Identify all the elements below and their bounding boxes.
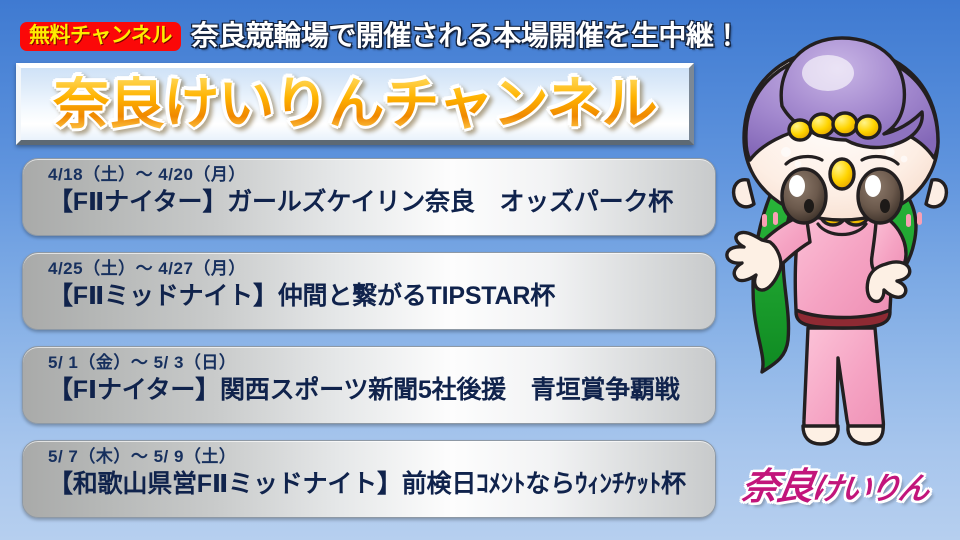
mascot-eye-highlights xyxy=(789,175,890,213)
mascot-belt xyxy=(796,298,890,328)
mascot-torso xyxy=(795,201,891,318)
event-date: 4/25（土）～ 4/27（月） xyxy=(48,260,715,277)
mascot-legs xyxy=(804,328,883,442)
mascot-arm-left xyxy=(753,214,810,274)
mascot-shoe-right xyxy=(848,426,883,444)
mascot-ear-left xyxy=(734,180,754,207)
mascot-character-illustration xyxy=(700,28,960,498)
mascot-face xyxy=(744,48,938,220)
schedule-list: 4/18（土）～ 4/20（月） 【FⅡナイター】ガールズケイリン奈良 オッズパ… xyxy=(22,158,716,518)
mascot-headdress-band xyxy=(746,52,938,160)
brand-logo-main: 奈良 xyxy=(739,466,815,507)
mascot-headdress-top xyxy=(781,38,922,147)
mascot-forehead-jewel xyxy=(830,159,854,189)
broadcast-promo-screen: 無料チャンネル 奈良競輪場で開催される本場開催を生中継！ 奈良けいりんチャンネル… xyxy=(0,0,960,540)
mascot-headdress-beads xyxy=(789,113,880,140)
event-date: 4/18（土）～ 4/20（月） xyxy=(48,166,715,183)
mascot-sash-right xyxy=(851,163,916,384)
mascot-hand-right xyxy=(867,262,909,302)
mascot-eye-left xyxy=(782,169,826,223)
list-item[interactable]: 4/18（土）～ 4/20（月） 【FⅡナイター】ガールズケイリン奈良 オッズパ… xyxy=(22,158,716,236)
header: 無料チャンネル 奈良競輪場で開催される本場開催を生中継！ xyxy=(20,17,741,55)
list-item[interactable]: 4/25（土）～ 4/27（月） 【FⅡミッドナイト】仲間と繋がるTIPSTAR… xyxy=(22,252,716,330)
mascot-eye-right xyxy=(858,169,902,223)
mascot-hand-left xyxy=(727,232,781,290)
mascot-ear-right xyxy=(926,180,946,207)
list-item[interactable]: 5/ 1（金）～ 5/ 3（日） 【FⅠナイター】関西スポーツ新聞5社後援 青垣… xyxy=(22,346,716,424)
mascot-sash-left xyxy=(753,178,806,372)
page-title: 奈良けいりんチャンネル xyxy=(53,76,656,132)
event-title: 【和歌山県営FⅡミッドナイト】前検日ｺﾒﾝﾄならｳｨﾝﾁｹｯﾄ杯 xyxy=(48,471,715,497)
brand-logo-sub: けいりん xyxy=(809,471,931,506)
event-date: 5/ 7（木）～ 5/ 9（土） xyxy=(48,448,715,465)
mascot-brow-left xyxy=(786,157,822,164)
channel-title-plate: 奈良けいりんチャンネル xyxy=(16,63,694,145)
free-channel-badge: 無料チャンネル xyxy=(20,22,181,51)
brand-logo: 奈良けいりん xyxy=(739,468,931,505)
header-tagline: 奈良競輪場で開催される本場開催を生中継！ xyxy=(191,22,741,50)
mascot-brow-right xyxy=(862,157,898,164)
mascot-blush xyxy=(762,212,922,227)
mascot-arm-right xyxy=(872,214,906,278)
event-title: 【FⅡナイター】ガールズケイリン奈良 オッズパーク杯 xyxy=(48,189,715,215)
mascot-headdress-shine xyxy=(781,55,907,167)
mascot-necklace xyxy=(800,196,889,225)
event-title: 【FⅡミッドナイト】仲間と繋がるTIPSTAR杯 xyxy=(48,283,715,309)
list-item[interactable]: 5/ 7（木）～ 5/ 9（土） 【和歌山県営FⅡミッドナイト】前検日ｺﾒﾝﾄな… xyxy=(22,440,716,518)
mascot-shoe-left xyxy=(803,426,838,444)
mascot-mouth xyxy=(818,224,866,235)
event-date: 5/ 1（金）～ 5/ 3（日） xyxy=(48,354,715,371)
event-title: 【FⅠナイター】関西スポーツ新聞5社後援 青垣賞争覇戦 xyxy=(48,377,715,403)
